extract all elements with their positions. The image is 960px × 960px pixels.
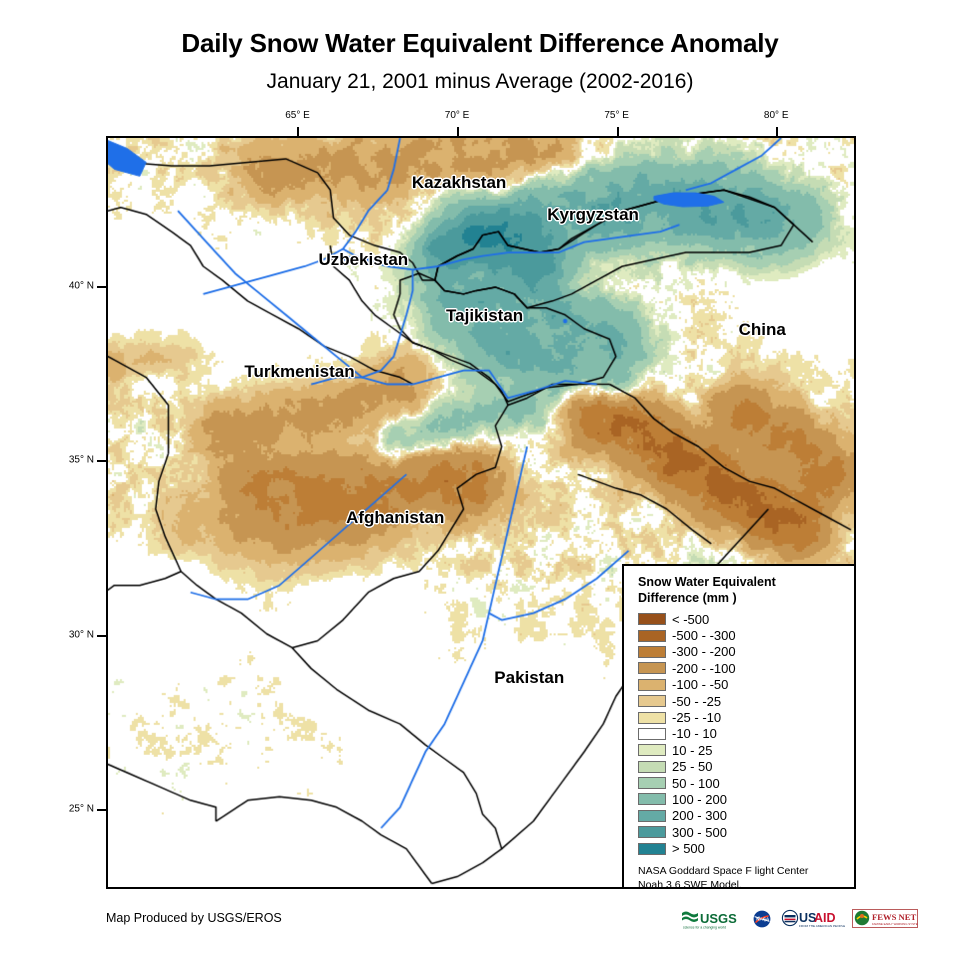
legend-row: 100 - 200 xyxy=(638,791,846,807)
legend-swatch xyxy=(638,826,666,838)
lat-tick-label: 30° N xyxy=(69,629,94,640)
produced-by-label: Map Produced by USGS/EROS xyxy=(106,911,282,925)
legend-row: -25 - -10 xyxy=(638,709,846,725)
map-legend: Snow Water Equivalent Difference (mm ) <… xyxy=(622,564,856,889)
lat-tick xyxy=(97,809,106,811)
legend-label: 200 - 300 xyxy=(672,809,727,822)
lon-tick-label: 80° E xyxy=(764,110,789,121)
lon-tick-label: 75° E xyxy=(604,110,629,121)
legend-label: -300 - -200 xyxy=(672,645,736,658)
legend-swatch xyxy=(638,810,666,822)
legend-swatch xyxy=(638,712,666,724)
svg-text:AID: AID xyxy=(814,911,836,925)
map-frame: KazakhstanUzbekistanKyrgyzstanTajikistan… xyxy=(106,136,856,889)
legend-row: -500 - -300 xyxy=(638,627,846,643)
svg-text:science for a changing world: science for a changing world xyxy=(683,926,726,930)
legend-label: 300 - 500 xyxy=(672,826,727,839)
legend-swatch xyxy=(638,777,666,789)
page-title: Daily Snow Water Equivalent Difference A… xyxy=(0,28,960,59)
svg-text:FAMINE EARLY WARNING SYSTEMS N: FAMINE EARLY WARNING SYSTEMS NETWORK xyxy=(872,922,918,926)
legend-swatch xyxy=(638,646,666,658)
agency-logo-row: USGS science for a changing world NASA U… xyxy=(681,908,918,930)
lat-tick-label: 25° N xyxy=(69,803,94,814)
legend-title-line1: Snow Water Equivalent xyxy=(638,574,846,590)
legend-swatch xyxy=(638,793,666,805)
legend-row: 50 - 100 xyxy=(638,775,846,791)
legend-credit-line2: Noah 3.6 SWE Model. xyxy=(638,878,846,889)
legend-row: 25 - 50 xyxy=(638,759,846,775)
legend-class-list: < -500-500 - -300-300 - -200-200 - -100-… xyxy=(638,611,846,857)
lon-tick-label: 70° E xyxy=(445,110,470,121)
lat-tick-label: 40° N xyxy=(69,280,94,291)
map-container[interactable]: KazakhstanUzbekistanKyrgyzstanTajikistan… xyxy=(106,136,856,889)
lat-tick xyxy=(97,460,106,462)
lon-tick xyxy=(297,127,299,136)
page-subtitle: January 21, 2001 minus Average (2002-201… xyxy=(0,70,960,94)
legend-swatch xyxy=(638,630,666,642)
legend-row: -100 - -50 xyxy=(638,677,846,693)
legend-credit-line1: NASA Goddard Space F light Center xyxy=(638,864,846,878)
legend-swatch xyxy=(638,744,666,756)
legend-row: 200 - 300 xyxy=(638,808,846,824)
legend-credit: NASA Goddard Space F light Center Noah 3… xyxy=(638,864,846,889)
legend-label: -200 - -100 xyxy=(672,662,736,675)
lat-tick-label: 35° N xyxy=(69,455,94,466)
legend-row: 10 - 25 xyxy=(638,742,846,758)
legend-row: -300 - -200 xyxy=(638,644,846,660)
legend-swatch xyxy=(638,679,666,691)
lon-tick xyxy=(457,127,459,136)
legend-label: 100 - 200 xyxy=(672,793,727,806)
legend-label: -500 - -300 xyxy=(672,629,736,642)
legend-row: 300 - 500 xyxy=(638,824,846,840)
legend-label: -10 - 10 xyxy=(672,727,717,740)
legend-swatch xyxy=(638,761,666,773)
legend-label: -100 - -50 xyxy=(672,678,728,691)
lat-tick xyxy=(97,635,106,637)
lat-tick xyxy=(97,286,106,288)
svg-text:FEWS NET: FEWS NET xyxy=(872,912,916,922)
legend-row: < -500 xyxy=(638,611,846,627)
lon-tick xyxy=(776,127,778,136)
legend-row: > 500 xyxy=(638,840,846,856)
lon-tick-label: 65° E xyxy=(285,110,310,121)
legend-title: Snow Water Equivalent Difference (mm ) xyxy=(638,574,846,606)
legend-title-line2: Difference (mm ) xyxy=(638,590,846,606)
svg-text:USGS: USGS xyxy=(700,911,737,926)
legend-label: 25 - 50 xyxy=(672,760,712,773)
legend-row: -50 - -25 xyxy=(638,693,846,709)
nasa-logo: NASA xyxy=(750,908,774,930)
legend-swatch xyxy=(638,662,666,674)
legend-label: > 500 xyxy=(672,842,705,855)
usaid-logo: US AID FROM THE AMERICAN PEOPLE xyxy=(781,908,845,930)
legend-label: -25 - -10 xyxy=(672,711,721,724)
legend-swatch xyxy=(638,695,666,707)
lon-tick xyxy=(617,127,619,136)
legend-label: -50 - -25 xyxy=(672,695,721,708)
legend-swatch xyxy=(638,843,666,855)
legend-label: 50 - 100 xyxy=(672,777,720,790)
legend-swatch xyxy=(638,613,666,625)
legend-label: < -500 xyxy=(672,613,709,626)
legend-swatch xyxy=(638,728,666,740)
usgs-logo: USGS science for a changing world xyxy=(681,908,743,930)
svg-text:NASA: NASA xyxy=(756,917,770,922)
legend-row: -200 - -100 xyxy=(638,660,846,676)
fews-net-logo: FEWS NET FAMINE EARLY WARNING SYSTEMS NE… xyxy=(852,908,918,930)
legend-row: -10 - 10 xyxy=(638,726,846,742)
svg-text:FROM THE AMERICAN PEOPLE: FROM THE AMERICAN PEOPLE xyxy=(799,924,845,928)
legend-label: 10 - 25 xyxy=(672,744,712,757)
